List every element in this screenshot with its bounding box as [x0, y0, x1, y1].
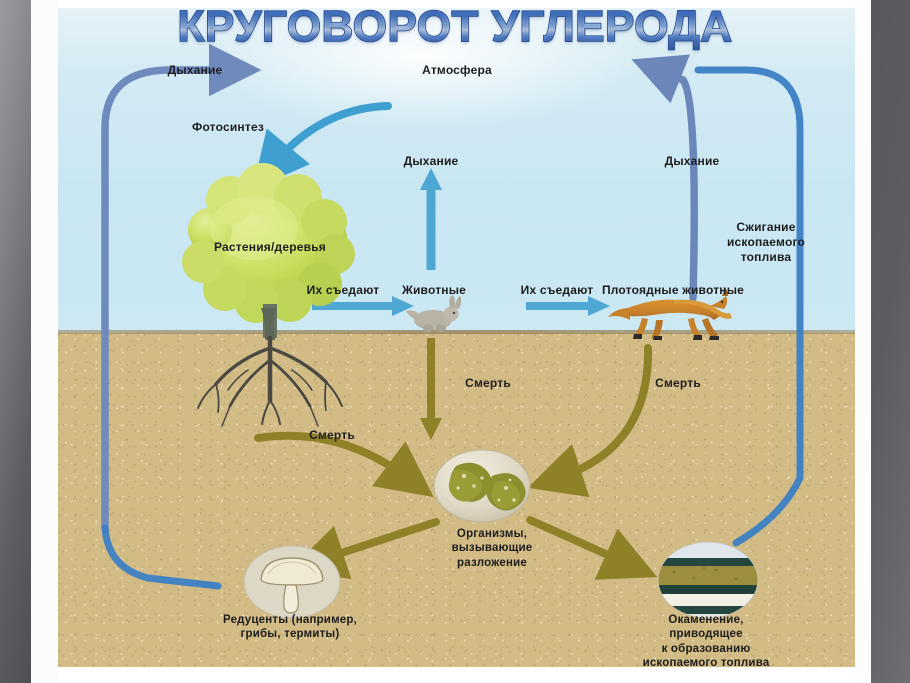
mushroom-icon — [244, 546, 340, 618]
label-decomposers: Редуценты (например, грибы, термиты) — [223, 613, 357, 642]
label-death-right: Смерть — [655, 376, 701, 391]
label-animals: Животные — [402, 283, 466, 298]
slide-canvas: Дыхание Атмосфера Фотосинтез Дыхание Дых… — [0, 0, 910, 683]
label-atmosphere: Атмосфера — [422, 63, 492, 78]
label-plants-trees: Растения/деревья — [214, 240, 326, 255]
right-frame-decoration — [871, 0, 910, 683]
label-death-left: Смерть — [309, 428, 355, 443]
label-respiration-left: Дыхание — [168, 63, 223, 78]
label-decomposing-organisms: Организмы, вызывающие разложение — [452, 527, 533, 570]
label-photosynthesis: Фотосинтез — [192, 120, 264, 135]
label-death-middle: Смерть — [465, 376, 511, 391]
label-eaten-by-1: Их съедают — [307, 283, 380, 298]
rock-strata-icon — [656, 542, 760, 624]
decaying-leaves-icon — [434, 450, 530, 522]
right-frame-gap — [855, 0, 871, 683]
label-eaten-by-2: Их съедают — [521, 283, 594, 298]
rabbit-icon — [406, 295, 461, 332]
label-carnivores: Плотоядные животные — [602, 283, 744, 298]
label-respiration-middle: Дыхание — [404, 154, 459, 169]
label-fossil-fuel-burning: Сжигание ископаемого топлива — [727, 220, 805, 265]
left-frame-gap — [31, 0, 58, 683]
left-frame-decoration — [0, 0, 31, 683]
label-respiration-right: Дыхание — [665, 154, 720, 169]
label-fossilization: Окаменение, приводящее к образованию иск… — [632, 613, 781, 667]
slide-title: КРУГОВОРОТ УГЛЕРОДА — [0, 2, 910, 52]
carbon-cycle-illustration: Дыхание Атмосфера Фотосинтез Дыхание Дых… — [58, 8, 855, 667]
